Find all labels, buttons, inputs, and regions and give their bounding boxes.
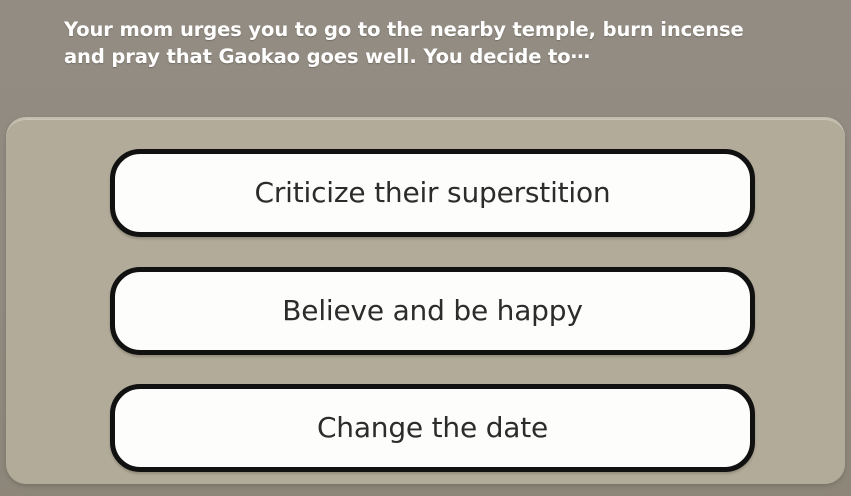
narration-line-2: and pray that Gaokao goes well. You deci… xyxy=(64,43,804,70)
choice-button-1-label: Criticize their superstition xyxy=(255,179,611,207)
choice-button-3[interactable]: Change the date xyxy=(110,384,755,472)
narration-text: Your mom urges you to go to the nearby t… xyxy=(64,16,804,70)
narration-line-2-text: and pray that Gaokao goes well. You deci… xyxy=(64,45,571,68)
choice-panel: Criticize their superstition Believe and… xyxy=(6,117,845,484)
narration-line-1: Your mom urges you to go to the nearby t… xyxy=(64,16,804,43)
game-dialogue-screen: Your mom urges you to go to the nearby t… xyxy=(0,0,851,496)
choice-button-2[interactable]: Believe and be happy xyxy=(110,267,755,355)
narration-ellipsis: ⋯ xyxy=(571,45,592,68)
choice-button-3-label: Change the date xyxy=(317,414,548,442)
choice-button-2-label: Believe and be happy xyxy=(282,297,582,325)
choice-button-1[interactable]: Criticize their superstition xyxy=(110,149,755,237)
choice-list: Criticize their superstition Believe and… xyxy=(6,119,845,484)
